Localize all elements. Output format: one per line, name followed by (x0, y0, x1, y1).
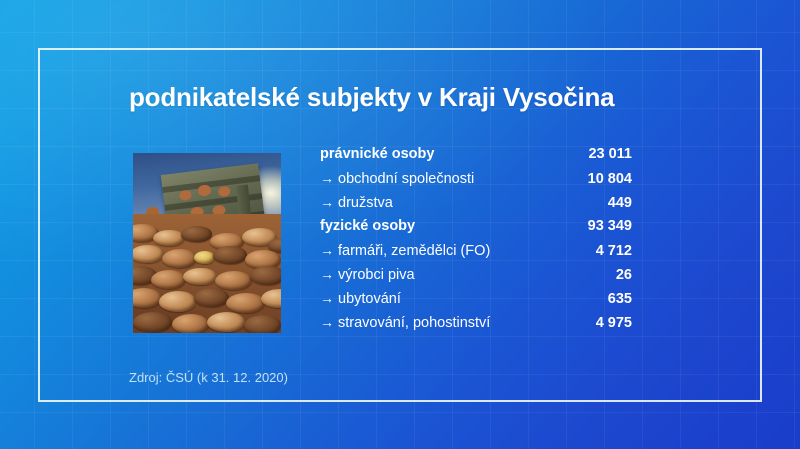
row-label: →stravování, pohostinství (320, 314, 558, 331)
table-row: →výrobci piva 26 (320, 266, 632, 290)
row-value: 635 (558, 291, 632, 307)
potato-harvest-photo (133, 153, 281, 333)
potato (194, 288, 229, 307)
row-label: →obchodní společnosti (320, 170, 558, 187)
potato (151, 270, 186, 289)
table-row: →družstva 449 (320, 194, 632, 218)
source-note: Zdroj: ČSÚ (k 31. 12. 2020) (129, 370, 288, 385)
row-value: 26 (558, 267, 632, 283)
row-label: →družstva (320, 194, 558, 211)
row-label: fyzické osoby (320, 218, 558, 234)
table-row: →ubytování 635 (320, 290, 632, 314)
row-label: →výrobci piva (320, 266, 558, 283)
potato (183, 268, 217, 286)
trailer-potato (179, 190, 193, 202)
table-row: právnické osoby 23 011 (320, 146, 632, 170)
row-value: 4 975 (558, 315, 632, 331)
row-label: →ubytování (320, 290, 558, 307)
potato-pile (133, 214, 281, 333)
potato (133, 312, 171, 332)
potato (181, 226, 211, 241)
page-title: podnikatelské subjekty v Kraji Vysočina (129, 82, 614, 113)
arrow-icon: → (320, 266, 334, 282)
row-value: 4 712 (558, 243, 632, 259)
row-label: právnické osoby (320, 146, 558, 162)
infographic-slide: podnikatelské subjekty v Kraji Vysočina (0, 0, 800, 449)
row-value: 449 (558, 195, 632, 211)
potato (215, 271, 252, 290)
arrow-icon: → (320, 242, 334, 258)
statistics-table: právnické osoby 23 011 →obchodní společn… (320, 146, 632, 338)
arrow-icon: → (320, 314, 334, 330)
table-row: →obchodní společnosti 10 804 (320, 170, 632, 194)
potato (226, 293, 264, 313)
potato (153, 230, 185, 247)
potato (162, 249, 197, 268)
row-value: 10 804 (558, 171, 632, 187)
table-row: →farmáři, zemědělci (FO) 4 712 (320, 242, 632, 266)
potato (172, 314, 209, 333)
arrow-icon: → (320, 290, 334, 306)
potato (244, 315, 281, 333)
arrow-icon: → (320, 170, 334, 186)
row-value: 23 011 (558, 146, 632, 162)
arrow-icon: → (320, 194, 334, 210)
potato (250, 266, 281, 285)
row-label: →farmáři, zemědělci (FO) (320, 242, 558, 259)
trailer-potato (198, 185, 212, 197)
potato (133, 245, 164, 263)
row-value: 93 349 (558, 218, 632, 234)
table-row: →stravování, pohostinství 4 975 (320, 314, 632, 338)
potato (159, 291, 196, 311)
potato (133, 288, 162, 308)
table-row: fyzické osoby 93 349 (320, 218, 632, 242)
potato (213, 246, 247, 264)
potato (207, 312, 245, 332)
potato (194, 251, 215, 264)
